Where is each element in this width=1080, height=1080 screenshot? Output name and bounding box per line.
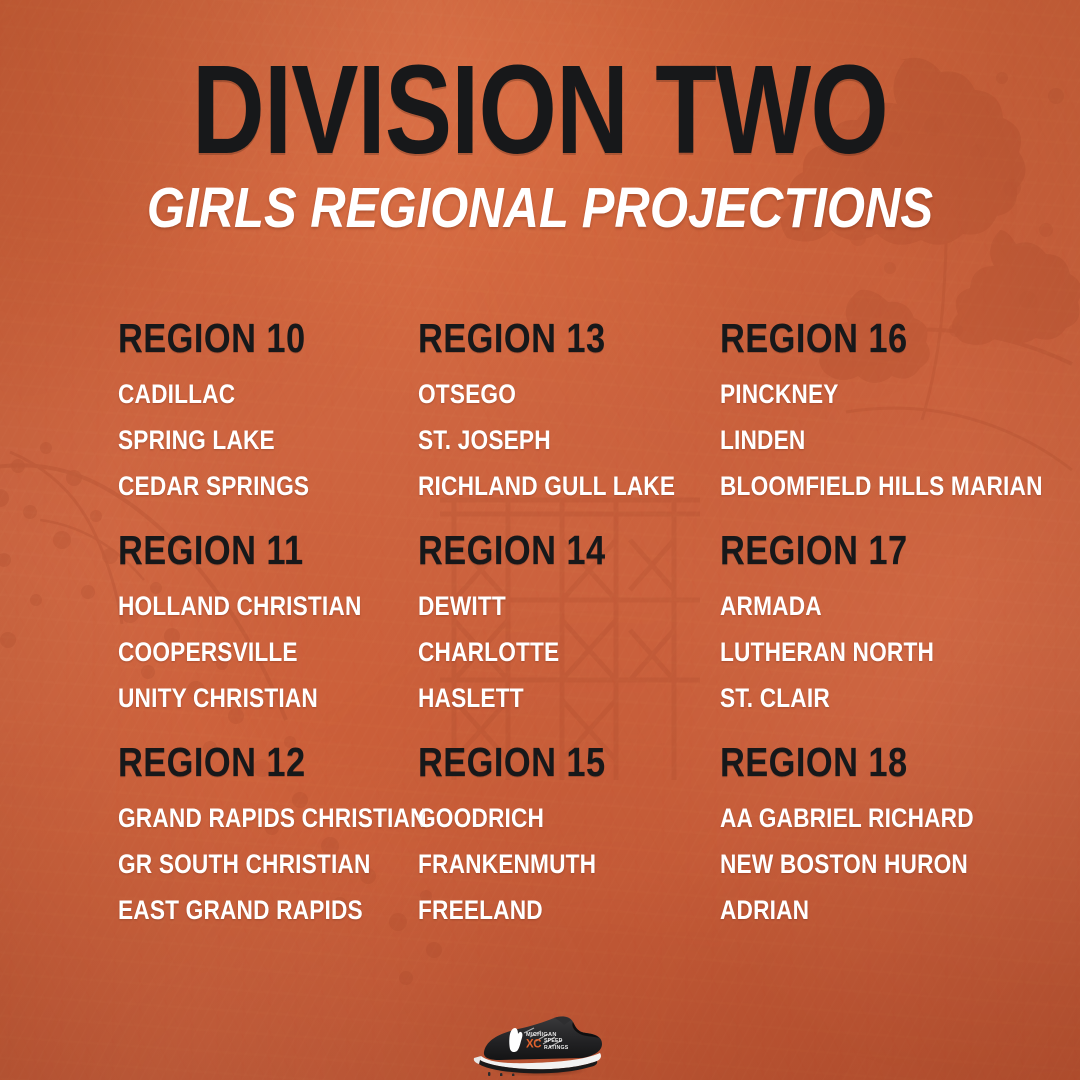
- team-item: OTSEGO: [418, 381, 672, 408]
- team-item: HOLLAND CHRISTIAN: [118, 593, 370, 620]
- team-list: GOODRICH FRANKENMUTH FREELAND: [418, 805, 720, 924]
- team-item: LUTHERAN NORTH: [720, 639, 1014, 666]
- brand-line-ratings: RATINGS: [544, 1045, 569, 1051]
- team-item: GRAND RAPIDS CHRISTIAN: [118, 805, 370, 832]
- team-item: CADILLAC: [118, 381, 370, 408]
- team-item: FREELAND: [418, 897, 672, 924]
- region-title: REGION 15: [418, 742, 672, 783]
- team-item: ADRIAN: [720, 897, 1014, 924]
- region-title: REGION 16: [720, 318, 1014, 359]
- region-title: REGION 17: [720, 530, 1014, 571]
- region-title: REGION 18: [720, 742, 1014, 783]
- team-list: HOLLAND CHRISTIAN COOPERSVILLE UNITY CHR…: [118, 593, 418, 712]
- team-item: RICHLAND GULL LAKE: [418, 473, 672, 500]
- team-item: DEWITT: [418, 593, 672, 620]
- region-block: REGION 17 ARMADA LUTHERAN NORTH ST. CLAI…: [720, 530, 1070, 742]
- team-list: AA GABRIEL RICHARD NEW BOSTON HURON ADRI…: [720, 805, 1070, 924]
- region-title: REGION 12: [118, 742, 370, 783]
- region-block: REGION 11 HOLLAND CHRISTIAN COOPERSVILLE…: [118, 530, 418, 742]
- team-item: CHARLOTTE: [418, 639, 672, 666]
- region-title: REGION 13: [418, 318, 672, 359]
- team-item: EAST GRAND RAPIDS: [118, 897, 370, 924]
- title-block: DIVISION TWO GIRLS REGIONAL PROJECTIONS: [0, 56, 1080, 237]
- region-block: REGION 10 CADILLAC SPRING LAKE CEDAR SPR…: [118, 318, 418, 530]
- team-item: ST. JOSEPH: [418, 427, 672, 454]
- team-item: BLOOMFIELD HILLS MARIAN: [720, 473, 1014, 500]
- running-spike-shoe-icon: MICHIGAN XC SPEED RATINGS: [466, 1006, 614, 1076]
- brand-line-xc: XC: [526, 1039, 541, 1051]
- region-title: REGION 14: [418, 530, 672, 571]
- team-item: SPRING LAKE: [118, 427, 370, 454]
- team-list: ARMADA LUTHERAN NORTH ST. CLAIR: [720, 593, 1070, 712]
- team-item: CEDAR SPRINGS: [118, 473, 370, 500]
- team-item: AA GABRIEL RICHARD: [720, 805, 1014, 832]
- division-two-regional-projections-poster: DIVISION TWO GIRLS REGIONAL PROJECTIONS …: [0, 0, 1080, 1080]
- region-title: REGION 10: [118, 318, 370, 359]
- team-list: PINCKNEY LINDEN BLOOMFIELD HILLS MARIAN: [720, 381, 1070, 500]
- team-list: DEWITT CHARLOTTE HASLETT: [418, 593, 720, 712]
- regions-grid: REGION 10 CADILLAC SPRING LAKE CEDAR SPR…: [118, 318, 1070, 954]
- team-list: OTSEGO ST. JOSEPH RICHLAND GULL LAKE: [418, 381, 720, 500]
- team-item: UNITY CHRISTIAN: [118, 685, 370, 712]
- team-item: PINCKNEY: [720, 381, 1014, 408]
- team-item: GOODRICH: [418, 805, 672, 832]
- team-item: FRANKENMUTH: [418, 851, 672, 878]
- region-block: REGION 15 GOODRICH FRANKENMUTH FREELAND: [418, 742, 720, 954]
- brand-line-speed: SPEED: [544, 1038, 563, 1044]
- team-item: GR SOUTH CHRISTIAN: [118, 851, 370, 878]
- team-item: ARMADA: [720, 593, 1014, 620]
- region-block: REGION 13 OTSEGO ST. JOSEPH RICHLAND GUL…: [418, 318, 720, 530]
- team-item: ST. CLAIR: [720, 685, 1014, 712]
- region-title: REGION 11: [118, 530, 370, 571]
- poster-content: DIVISION TWO GIRLS REGIONAL PROJECTIONS …: [0, 0, 1080, 1080]
- team-list: GRAND RAPIDS CHRISTIAN GR SOUTH CHRISTIA…: [118, 805, 418, 924]
- region-block: REGION 12 GRAND RAPIDS CHRISTIAN GR SOUT…: [118, 742, 418, 954]
- page-subtitle: GIRLS REGIONAL PROJECTIONS: [76, 180, 1005, 237]
- page-title: DIVISION TWO: [108, 56, 972, 164]
- team-item: LINDEN: [720, 427, 1014, 454]
- team-item: HASLETT: [418, 685, 672, 712]
- team-list: CADILLAC SPRING LAKE CEDAR SPRINGS: [118, 381, 418, 500]
- team-item: COOPERSVILLE: [118, 639, 370, 666]
- region-block: REGION 16 PINCKNEY LINDEN BLOOMFIELD HIL…: [720, 318, 1070, 530]
- region-block: REGION 14 DEWITT CHARLOTTE HASLETT: [418, 530, 720, 742]
- region-block: REGION 18 AA GABRIEL RICHARD NEW BOSTON …: [720, 742, 1070, 954]
- team-item: NEW BOSTON HURON: [720, 851, 1014, 878]
